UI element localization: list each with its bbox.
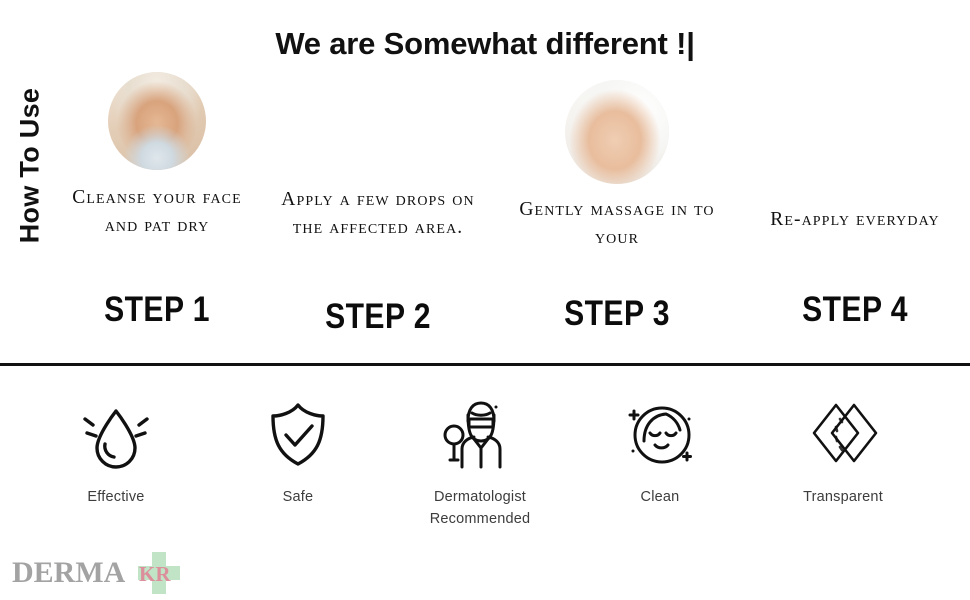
step-item: Re-apply everyday STEP 4 bbox=[748, 72, 962, 234]
feature-item-effective: Effective bbox=[36, 392, 196, 508]
step-number-label: STEP 2 bbox=[283, 297, 474, 337]
feature-label: Effective bbox=[36, 486, 196, 508]
step-number-label: STEP 4 bbox=[763, 290, 947, 330]
step-item: Apply a few drops on the affected area. … bbox=[267, 72, 489, 241]
brand-logo: DERMA KR bbox=[8, 548, 223, 598]
step-image-3 bbox=[565, 80, 669, 184]
step-image-2 bbox=[326, 72, 430, 176]
feature-label: Clean bbox=[582, 486, 738, 508]
feature-label: Transparent bbox=[760, 486, 926, 508]
step-caption: Gently massage in to your bbox=[504, 196, 730, 251]
step-caption: Apply a few drops on the affected area. bbox=[267, 186, 489, 241]
feature-item-safe: Safe bbox=[218, 392, 378, 508]
feature-label: Dermatologist Recommended bbox=[392, 486, 568, 530]
step-item: Gently massage in to your STEP 3 bbox=[504, 72, 730, 251]
steps-row: Cleanse your face and pat dry STEP 1 App… bbox=[62, 72, 962, 352]
infographic-page: We are Somewhat different !| How To Use … bbox=[0, 0, 970, 600]
step-caption: Cleanse your face and pat dry bbox=[62, 184, 252, 239]
step-number-label: STEP 3 bbox=[520, 294, 714, 334]
page-title: We are Somewhat different !| bbox=[0, 26, 970, 62]
features-row: Effective Safe bbox=[0, 392, 970, 552]
logo-sub-text: KR bbox=[139, 562, 171, 587]
section-divider bbox=[0, 363, 970, 366]
logo-wordmark: DERMA bbox=[12, 556, 125, 590]
feature-item-clean: Clean bbox=[582, 392, 738, 508]
feature-item-dermatologist: Dermatologist Recommended bbox=[392, 392, 568, 530]
feature-item-transparent: Transparent bbox=[760, 392, 926, 508]
sparkling-face-icon bbox=[582, 392, 738, 478]
water-droplet-icon bbox=[36, 392, 196, 478]
shield-check-icon bbox=[218, 392, 378, 478]
dermatologist-icon bbox=[392, 392, 568, 478]
section-label-how-to-use: How To Use bbox=[15, 81, 46, 251]
overlapping-diamonds-icon bbox=[760, 392, 926, 478]
step-item: Cleanse your face and pat dry STEP 1 bbox=[62, 72, 252, 239]
feature-label: Safe bbox=[218, 486, 378, 508]
step-image-1 bbox=[108, 72, 206, 170]
step-image-4 bbox=[803, 86, 907, 190]
step-number-label: STEP 1 bbox=[75, 290, 238, 330]
step-caption: Re-apply everyday bbox=[748, 206, 962, 234]
